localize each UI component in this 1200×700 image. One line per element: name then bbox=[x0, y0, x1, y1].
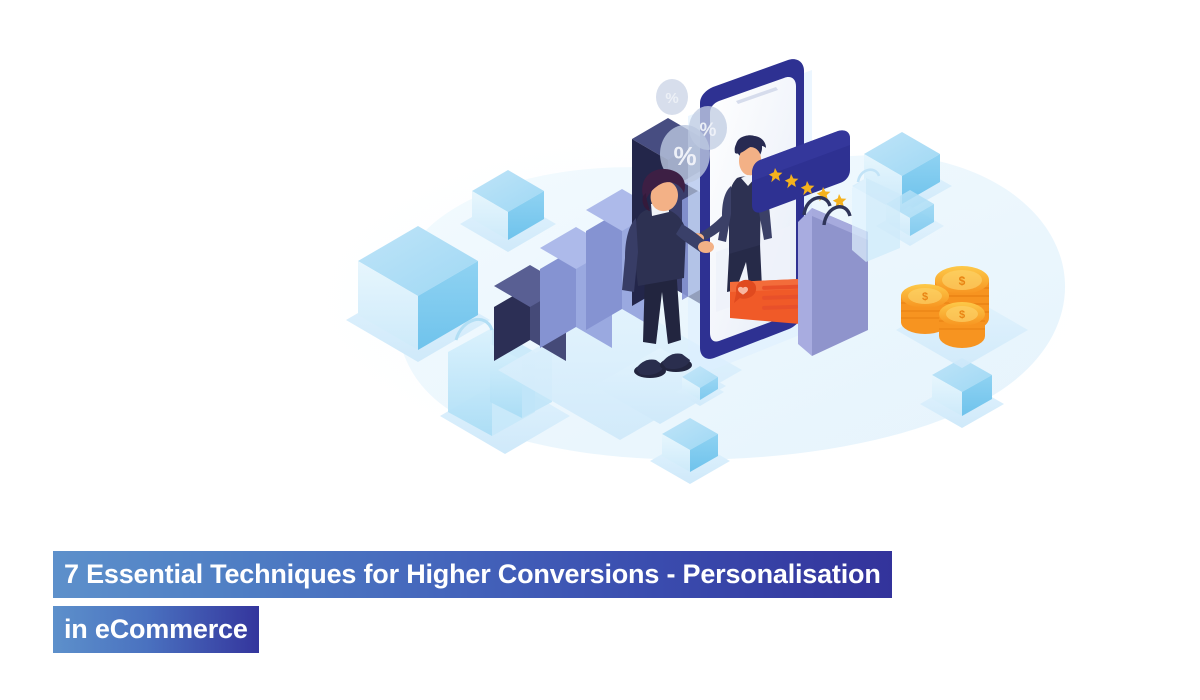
svg-text:%: % bbox=[673, 141, 696, 171]
svg-text:$: $ bbox=[922, 291, 928, 303]
percent-bubble: % bbox=[656, 79, 688, 115]
page-title-line-1: 7 Essential Techniques for Higher Conver… bbox=[53, 551, 892, 598]
page-title-line-2: in eCommerce bbox=[53, 606, 259, 653]
svg-text:$: $ bbox=[959, 309, 965, 321]
svg-text:%: % bbox=[665, 90, 678, 107]
page-title: 7 Essential Techniques for Higher Conver… bbox=[53, 551, 1063, 653]
hero-illustration: % % % bbox=[0, 0, 1200, 540]
svg-text:$: $ bbox=[959, 274, 966, 288]
page-root: % % % bbox=[0, 0, 1200, 700]
